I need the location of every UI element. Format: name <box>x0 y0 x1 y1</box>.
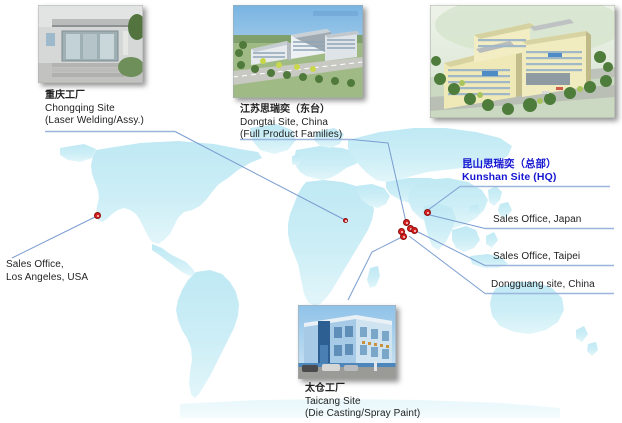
global-sites-diagram: 重庆工厂 Chongqing Site (Laser Welding/Assy.… <box>0 0 622 418</box>
sales-office-taipei-label: Sales Office, Taipei <box>493 251 580 264</box>
taicang-photo <box>298 305 396 379</box>
chongqing-caption-en: Chongqing Site <box>45 103 144 116</box>
chongqing-caption-cn: 重庆工厂 <box>45 90 144 103</box>
kunshan-photo <box>430 5 615 118</box>
taicang-caption-en: Taicang Site <box>305 396 420 409</box>
kunshan-hq-label-en: Kunshan Site (HQ) <box>462 171 557 184</box>
los-angeles-line1: Sales Office, <box>6 259 88 272</box>
chongqing-photo <box>38 5 143 83</box>
los-angeles-line2: Los Angeles, USA <box>6 272 88 285</box>
chongqing-caption: 重庆工厂 Chongqing Site (Laser Welding/Assy.… <box>45 90 144 128</box>
taicang-caption-detail: (Die Casting/Spray Paint) <box>305 408 420 421</box>
kunshan-hq-label: 昆山思瑞奕（总部） Kunshan Site (HQ) <box>462 158 557 184</box>
los-angeles-label: Sales Office, Los Angeles, USA <box>6 259 88 284</box>
sales-office-japan-label: Sales Office, Japan <box>493 214 581 227</box>
chongqing-caption-detail: (Laser Welding/Assy.) <box>45 115 144 128</box>
dongtai-caption: 江苏思瑞奕（东台） Dongtai Site, China (Full Prod… <box>240 104 342 142</box>
marker-los-angeles[interactable] <box>94 212 101 219</box>
marker-chongqing[interactable] <box>343 218 348 223</box>
dongtai-caption-cn: 江苏思瑞奕（东台） <box>240 104 342 117</box>
marker-dongguang[interactable] <box>398 228 405 235</box>
dongtai-caption-detail: (Full Product Families) <box>240 129 342 142</box>
dongtai-caption-en: Dongtai Site, China <box>240 117 342 130</box>
kunshan-hq-label-cn: 昆山思瑞奕（总部） <box>462 158 557 171</box>
marker-japan[interactable] <box>424 209 431 216</box>
dongtai-photo <box>233 5 363 98</box>
taicang-caption: 太仓工厂 Taicang Site (Die Casting/Spray Pai… <box>305 383 420 421</box>
marker-taipei[interactable] <box>411 227 418 234</box>
dongguang-site-label: Dongguang site, China <box>491 279 595 292</box>
taicang-caption-cn: 太仓工厂 <box>305 383 420 396</box>
